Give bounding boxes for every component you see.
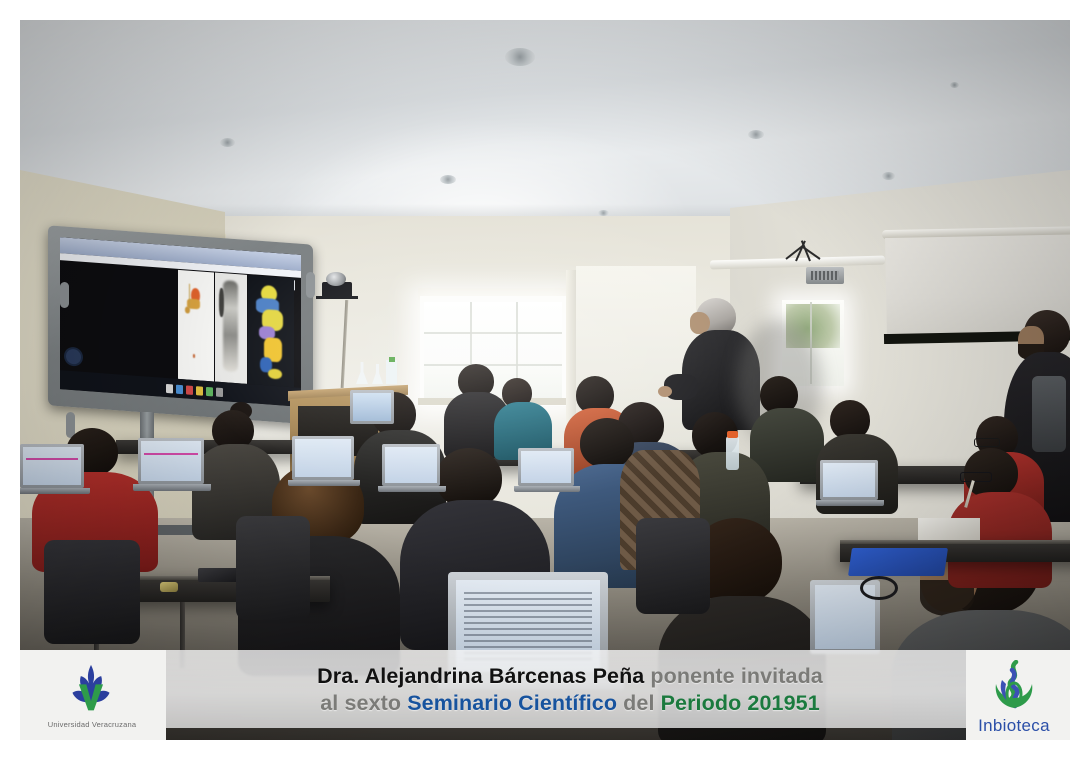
universidad-veracruzana-logo-icon — [56, 664, 126, 716]
downlight-3 — [440, 175, 456, 184]
blue-folder — [848, 548, 948, 576]
water-bottle-cap — [727, 431, 738, 438]
caption-prefix: al sexto — [320, 691, 407, 715]
chair-back-1 — [236, 516, 310, 620]
projector-vents — [811, 271, 839, 280]
rail-clips — [786, 248, 840, 260]
window-mullion-h2 — [424, 364, 562, 366]
downlight-4 — [748, 130, 764, 139]
shirt — [1032, 376, 1066, 452]
photo-frame: Dra. Alejandrina Bárcenas Peña ponente i… — [0, 0, 1090, 760]
caption-line-1: Dra. Alejandrina Bárcenas Peña ponente i… — [317, 664, 823, 689]
inbioteca-logo-icon — [988, 660, 1040, 714]
smartboard-handle-left — [60, 282, 69, 308]
downlight-8 — [950, 82, 959, 88]
lab-bottle — [386, 360, 397, 384]
speaker-name: Dra. Alejandrina Bárcenas Peña — [317, 664, 644, 688]
downlight-5 — [882, 172, 895, 180]
downlight-1 — [505, 48, 535, 66]
smartboard[interactable] — [48, 225, 313, 424]
notebook — [918, 518, 980, 540]
screen-image-panel-3 — [248, 275, 294, 387]
keys-on-table — [160, 582, 178, 592]
period-label: Periodo 201951 — [661, 691, 820, 715]
event-photograph: Dra. Alejandrina Bárcenas Peña ponente i… — [20, 20, 1070, 740]
screen-image-panel-1 — [178, 270, 214, 382]
inbioteca-logo-caption: Inbioteca — [966, 716, 1062, 736]
chair-back-3 — [636, 518, 710, 614]
taskbar-icons[interactable] — [166, 384, 223, 397]
hand — [658, 386, 672, 397]
eyeglasses-icon — [960, 472, 992, 482]
window-mullion-h1 — [424, 332, 562, 334]
eyeglasses-icon — [974, 438, 1000, 447]
camera-lens-icon — [326, 272, 346, 286]
screen-desktop-icon[interactable] — [66, 349, 81, 365]
universidad-veracruzana-logo-caption: Universidad Veracruzana — [36, 720, 148, 729]
screen-image-panel-2 — [215, 273, 246, 384]
caption-line-2: al sexto Seminario Científico del Period… — [320, 691, 820, 716]
smartboard-handle-right — [306, 272, 315, 298]
chair-back-2 — [44, 540, 140, 644]
event-name: Seminario Científico — [407, 691, 617, 715]
speaker-role: ponente invitada — [644, 664, 823, 688]
table-foreground-right-edge — [840, 540, 1070, 544]
smartboard-screen[interactable] — [60, 237, 301, 407]
caption-text-block: Dra. Alejandrina Bárcenas Peña ponente i… — [220, 652, 920, 728]
head — [436, 448, 502, 508]
cable-coil — [860, 576, 898, 600]
caption-middle: del — [617, 691, 661, 715]
downlight-2 — [220, 138, 235, 147]
water-bottle — [726, 436, 739, 470]
